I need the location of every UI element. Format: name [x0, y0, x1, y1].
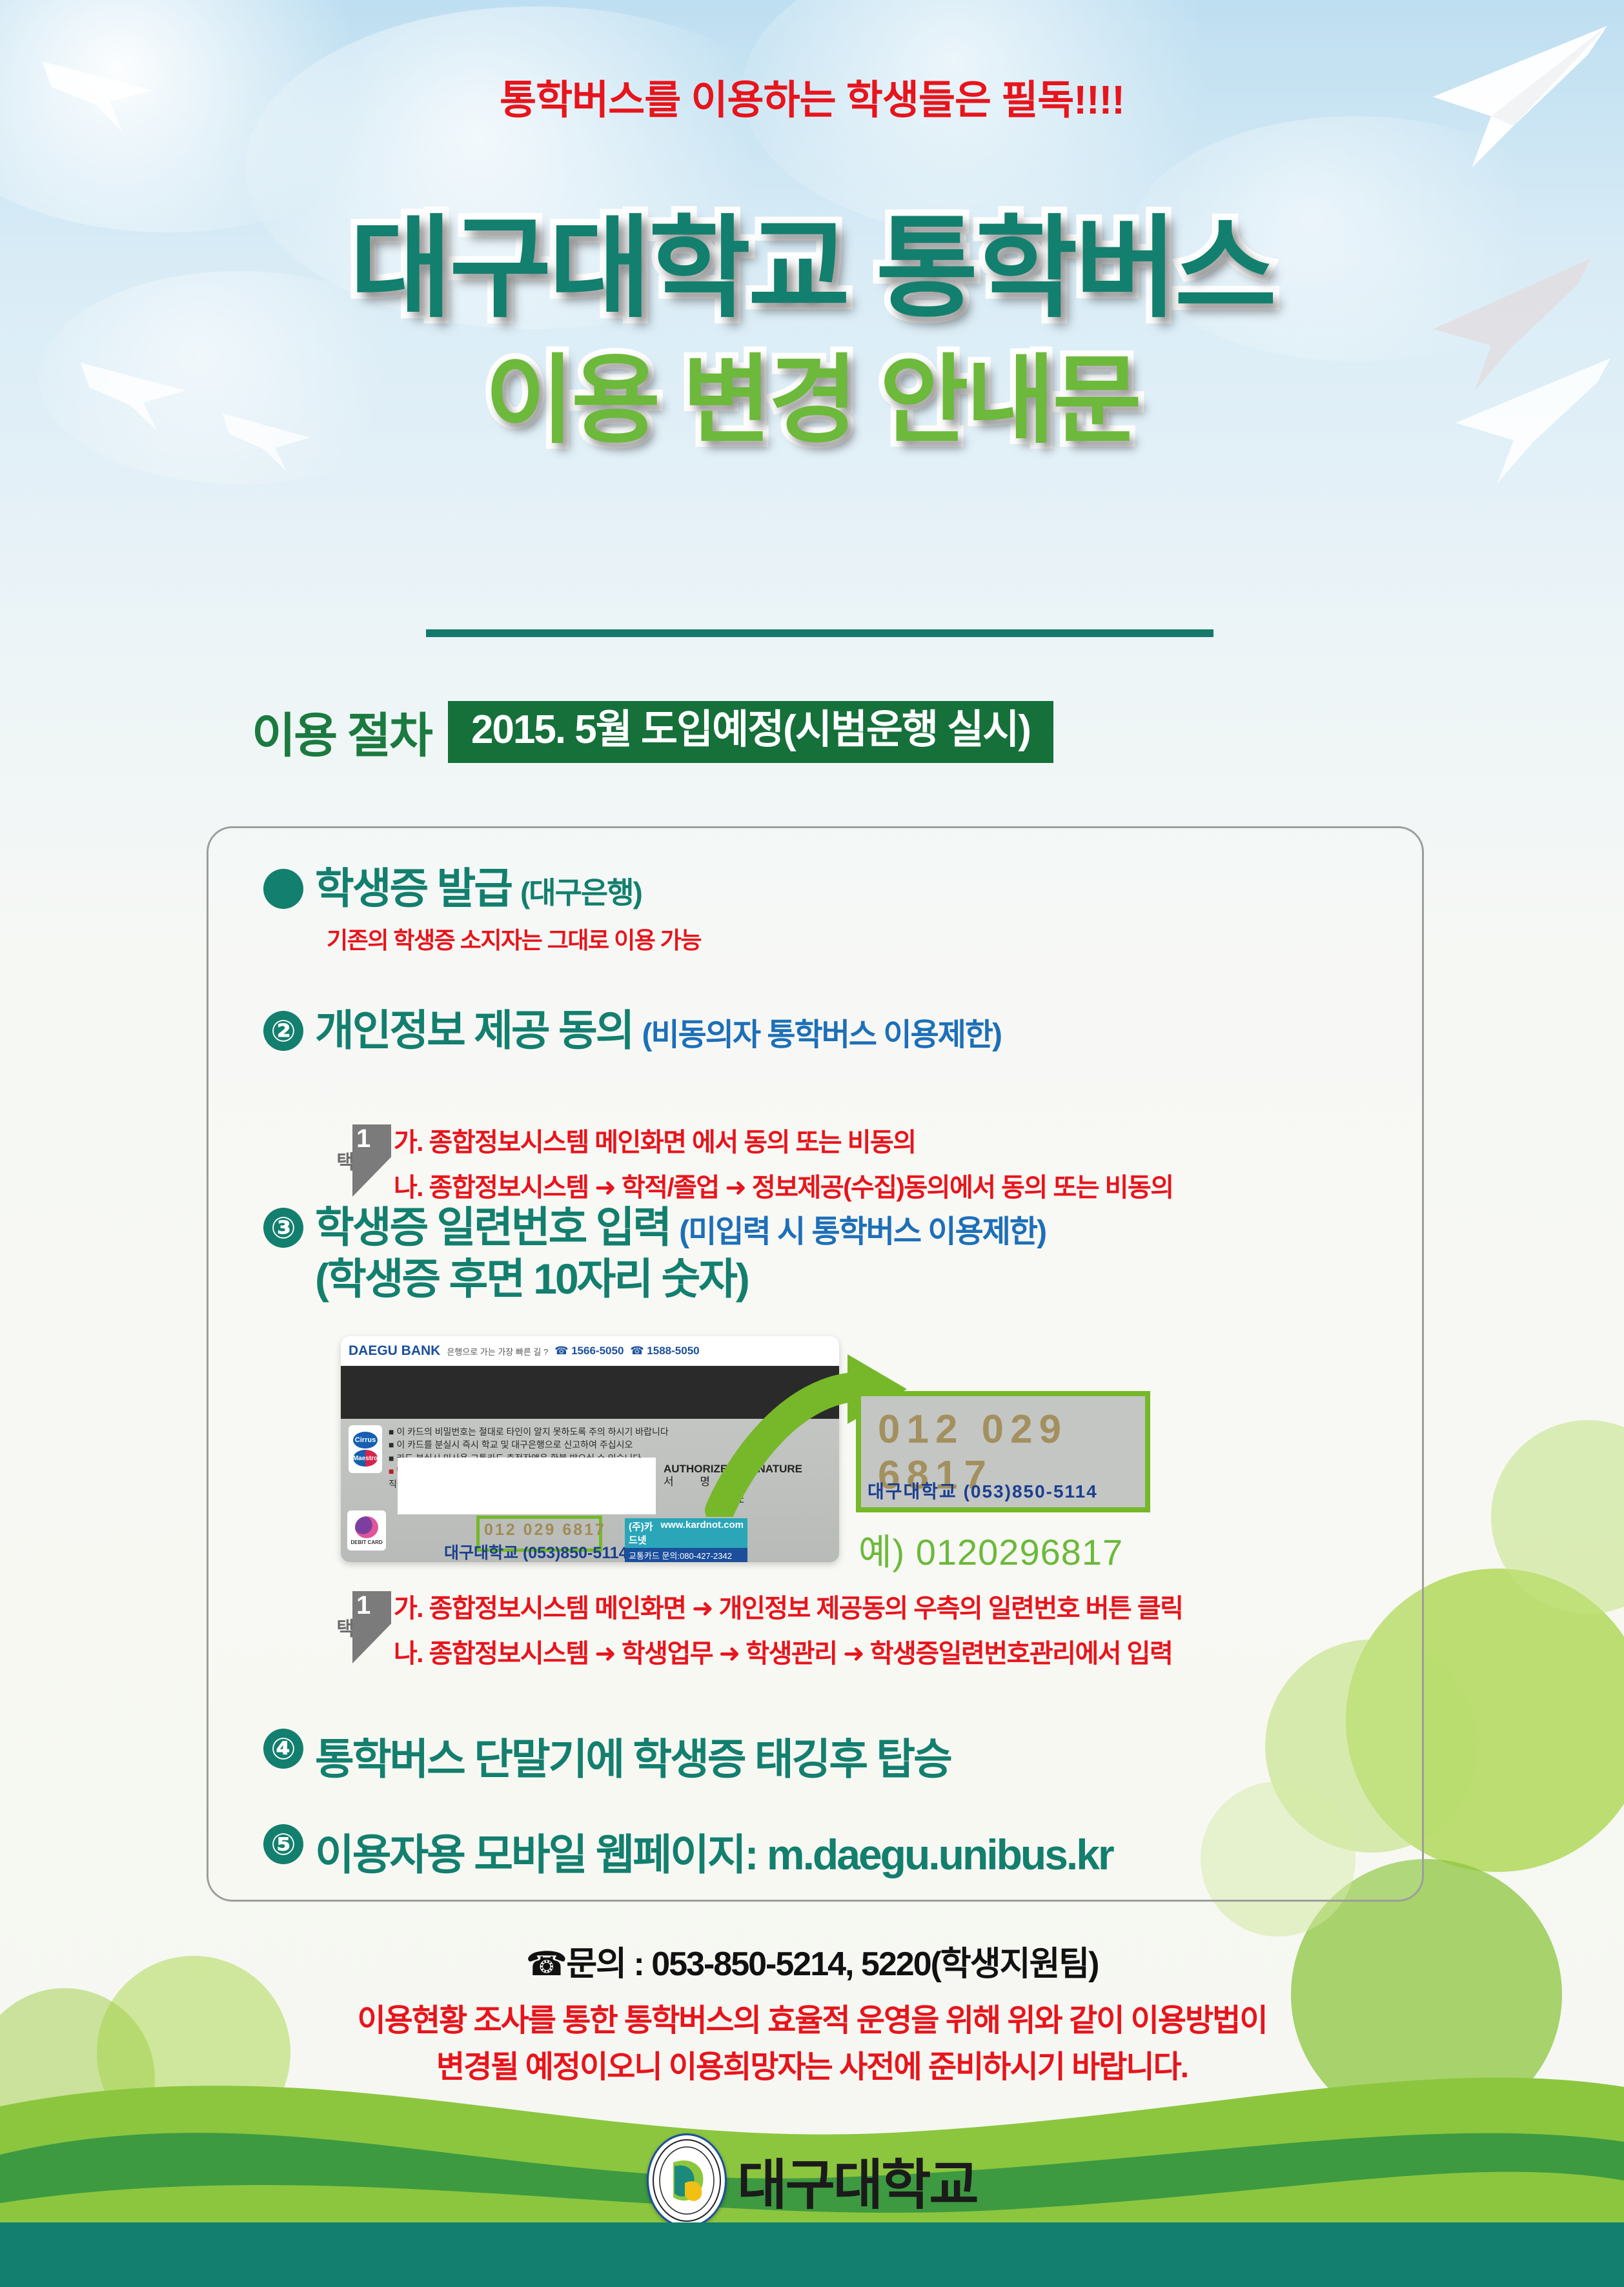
step-3: ③ 학생증 일련번호 입력 (미입력 시 통학버스 이용제한) (학생증 후면 … [263, 1204, 1046, 1303]
step-2-sub-a: 가. 종합정보시스템 메인화면 에서 동의 또는 비동의 [394, 1123, 1173, 1162]
serial-magnified-box: 012 029 6817 대구대학교 (053)850-5114 [856, 1391, 1150, 1512]
serial-example-text: 예) 0120296817 [858, 1523, 1123, 1576]
step-2-paren: (비동의자 통학버스 이용제한) [642, 1009, 1001, 1054]
title-divider [426, 629, 1213, 637]
card-signature-box [398, 1458, 656, 1514]
kardnet-block: (주)카드넷 www.kardnot.com 교통카드 문의:080-427-2… [625, 1518, 747, 1562]
step-3-title-line2: (학생증 후면 10자리 숫자) [315, 1255, 1046, 1303]
card-bank-name: DAEGU BANK [349, 1343, 440, 1359]
seal-glyph [651, 2138, 722, 2223]
university-seal-icon [647, 2133, 727, 2228]
step-1-paren: (대구은행) [520, 869, 642, 912]
contact-line: ☎문의 : 053-850-5214, 5220(학생지원팀) [0, 1936, 1624, 1985]
pick-label-3: 택 [333, 1618, 352, 1637]
step-3-sub-b: 나. 종합정보시스템 ➜ 학생업무 ➜ 학생관리 ➜ 학생증일련번호관리에서 입… [394, 1634, 1182, 1673]
step-4-title: 통학버스 단말기에 학생증 태깅후 탑승 [315, 1725, 951, 1787]
step-5: ⑤ 이용자용 모바일 웹페이지: m.daegu.unibus.kr [263, 1820, 1113, 1882]
pick-one-marker-3: 택 1 [333, 1591, 391, 1663]
section-banner: 2015. 5월 도입예정(시범운행 실시) [448, 701, 1053, 763]
card-university-line: 대구대학교 (053)850-5114 [444, 1540, 628, 1562]
card-bank-slogan: 은행으로 가는 가장 빠른 길 ? [447, 1345, 548, 1357]
step-2-title: 개인정보 제공 동의 [315, 1007, 633, 1055]
step-3-title: 학생증 일련번호 입력 [315, 1204, 670, 1252]
poster-title-line2: 이용 변경 안내문 [0, 352, 1624, 449]
card-serial-number: 012 029 6817 [484, 1521, 606, 1540]
university-name: 대구대학교 [737, 2142, 977, 2220]
pick-label-2: 택 [333, 1152, 352, 1170]
kardnet-row-1: (주)카드넷 www.kardnot.com [625, 1518, 747, 1548]
pick-one-marker-2: 택 1 [333, 1124, 391, 1197]
pick-arrow-3: 1 [352, 1591, 391, 1663]
maestro-label: Maestro [353, 1450, 378, 1467]
cirrus-maestro-logo-icon: Cirrus Maestro [349, 1425, 382, 1473]
step-2: ② 개인정보 제공 동의 (비동의자 통학버스 이용제한) [263, 1007, 1001, 1055]
card-bullet: ■ 이 카드의 비밀번호는 절대로 타인이 알지 못하도록 주의 하시기 바랍니… [389, 1425, 669, 1438]
step-5-title: 이용자용 모바일 웹페이지: m.daegu.unibus.kr [315, 1820, 1113, 1882]
step-2-sub-b: 나. 종합정보시스템 ➜ 학적/졸업 ➜ 정보제공(수집)동의에서 동의 또는 … [394, 1168, 1173, 1207]
step-1: ❶ 학생증 발급 (대구은행) 기존의 학생증 소지자는 그대로 이용 가능 [263, 865, 701, 955]
cirrus-label: Cirrus [353, 1432, 378, 1448]
kardnet-name: (주)카드넷 [629, 1520, 660, 1547]
section-header: 이용 절차 2015. 5월 도입예정(시범운행 실시) [252, 697, 1053, 766]
serial-magnified-underline: 대구대학교 (053)850-5114 [868, 1478, 1098, 1503]
step-number-4: ④ [263, 1729, 303, 1769]
step-3-sub-list: 가. 종합정보시스템 메인화면 ➜ 개인정보 제공동의 우측의 일련번호 버튼 … [394, 1589, 1182, 1673]
step-number-1: ❶ [263, 869, 303, 909]
kicker-text: 통학버스를 이용하는 학생들은 필독!!!! [0, 67, 1624, 125]
step-4: ④ 통학버스 단말기에 학생증 태깅후 탑승 [263, 1725, 951, 1787]
step-3-sub-a: 가. 종합정보시스템 메인화면 ➜ 개인정보 제공동의 우측의 일련번호 버튼 … [394, 1589, 1182, 1628]
poster-root: 통학버스를 이용하는 학생들은 필독!!!! 대구대학교 통학버스 이용 변경 … [0, 0, 1624, 2287]
debit-glyph [355, 1516, 378, 1538]
step-3-paren: (미입력 시 통학버스 이용제한) [679, 1206, 1046, 1251]
step-number-3: ③ [263, 1208, 303, 1248]
debit-label: DEBIT CARD [350, 1540, 382, 1545]
step-2-sub-list: 가. 종합정보시스템 메인화면 에서 동의 또는 비동의 나. 종합정보시스템 … [394, 1123, 1173, 1207]
step-1-title: 학생증 발급 [315, 865, 511, 913]
university-logo-row: 대구대학교 [0, 2133, 1624, 2228]
step-number-5: ⑤ [263, 1824, 303, 1864]
debit-card-logo-icon: DEBIT CARD [347, 1510, 386, 1550]
kardnet-row-2: 교통카드 문의:080-427-2342 [625, 1548, 747, 1562]
section-label: 이용 절차 [252, 697, 431, 766]
step-1-note: 기존의 학생증 소지자는 그대로 이용 가능 [327, 922, 701, 955]
watercolor-blob [1491, 1420, 1624, 1614]
poster-title-line1: 대구대학교 통학버스 [0, 213, 1624, 324]
card-bullet: ■ 이 카드를 분실시 즉시 학교 및 대구은행으로 신고하여 주십시오 [389, 1438, 669, 1451]
pick-arrow-2: 1 [352, 1124, 391, 1197]
kardnet-url: www.kardnot.com [660, 1520, 744, 1547]
bottom-teal-bar [0, 2222, 1624, 2287]
step-number-2: ② [263, 1011, 303, 1051]
card-tel-1: ☎ 1566-5050 [554, 1345, 624, 1357]
card-tel-2: ☎ 1588-5050 [630, 1345, 699, 1357]
